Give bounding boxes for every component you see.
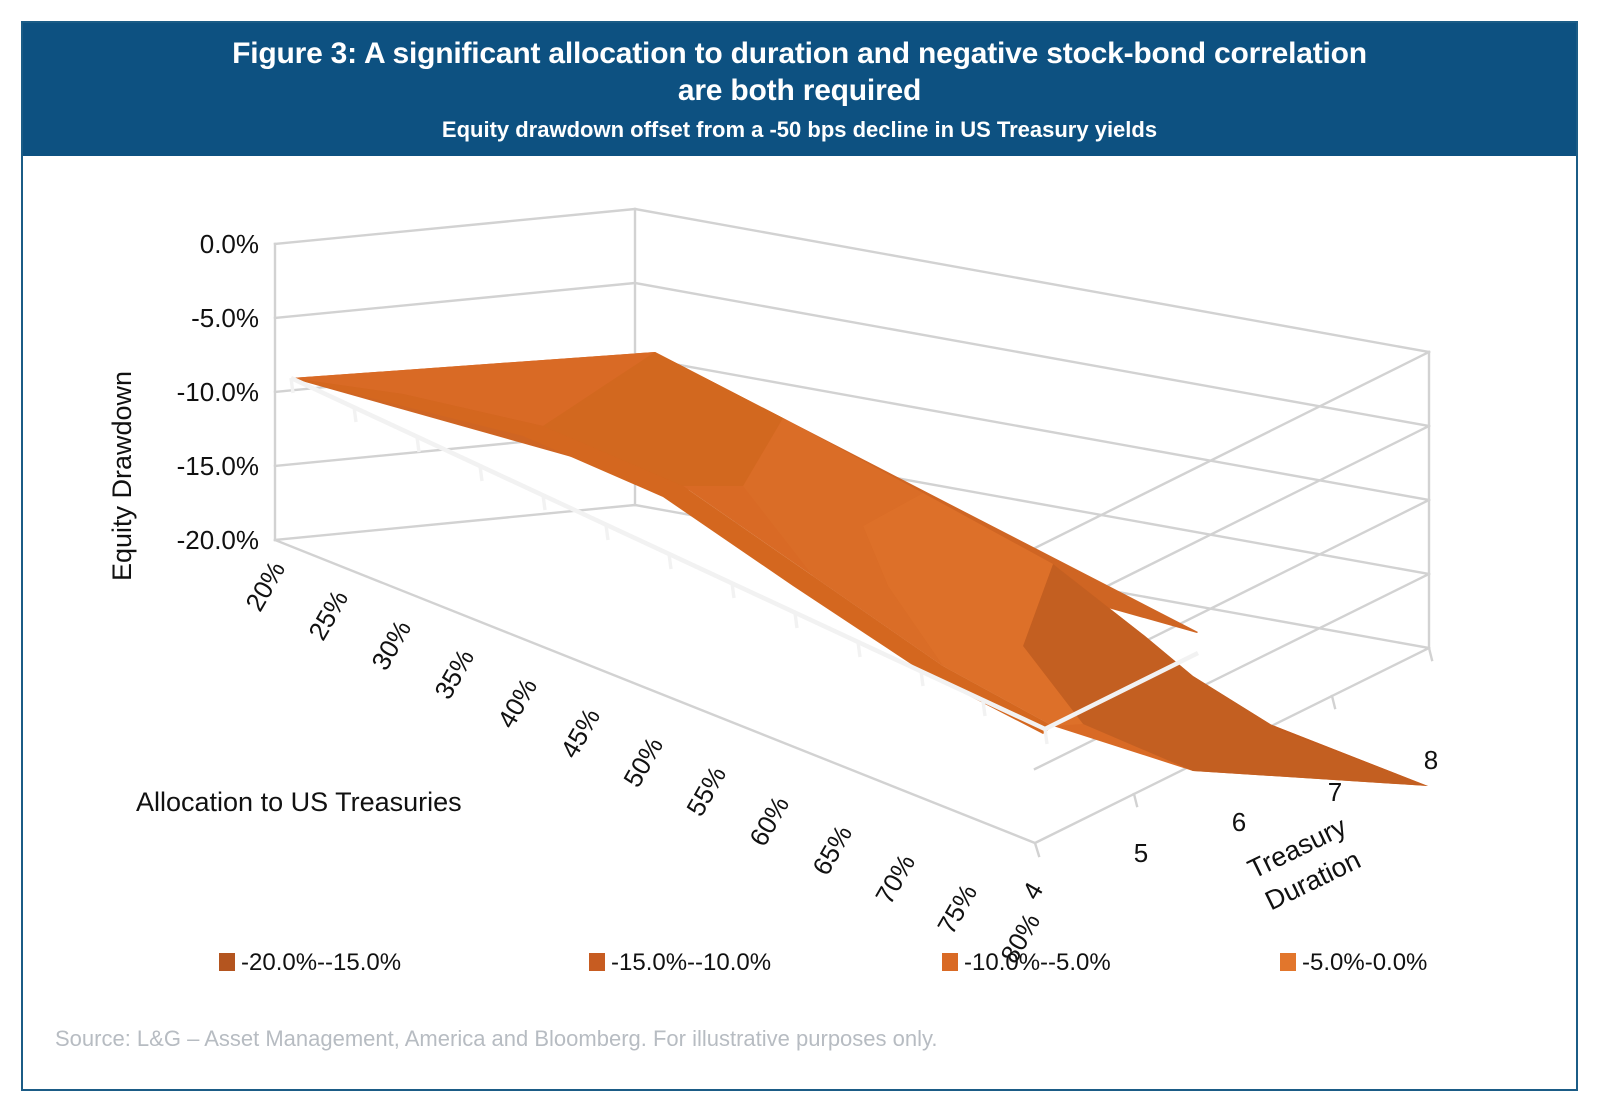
legend-swatch-0 bbox=[219, 953, 235, 971]
legend-swatch-2 bbox=[942, 953, 958, 971]
y-tick-3: -15.0% bbox=[177, 451, 259, 481]
source-note: Source: L&G – Asset Management, America … bbox=[55, 1026, 937, 1051]
legend-label-1: -15.0%--10.0% bbox=[611, 949, 771, 976]
x-tick-11: 75% bbox=[931, 879, 983, 939]
figure-subtitle: Equity drawdown offset from a -50 bps de… bbox=[442, 117, 1157, 143]
x-tick-5: 45% bbox=[554, 703, 606, 763]
legend-item-2[interactable]: -10.0%--5.0% bbox=[942, 949, 1111, 976]
y-tick-0: 0.0% bbox=[200, 229, 259, 259]
x-tick-6: 50% bbox=[617, 732, 669, 792]
z-tick-3: 7 bbox=[1328, 777, 1342, 807]
z-tick-2: 6 bbox=[1232, 807, 1246, 837]
legend-item-3[interactable]: -5.0%-0.0% bbox=[1280, 949, 1427, 976]
x-tick-2: 30% bbox=[365, 615, 417, 675]
chart-plot-area: 0.0% -5.0% -10.0% -15.0% -20.0% Equity D… bbox=[23, 156, 1576, 1093]
figure-title: Figure 3: A significant allocation to du… bbox=[210, 36, 1390, 109]
x-tick-10: 70% bbox=[869, 849, 921, 909]
x-axis-title: Allocation to US Treasuries bbox=[136, 787, 462, 817]
y-axis-title: Equity Drawdown bbox=[107, 371, 137, 581]
z-tick-0: 4 bbox=[1016, 877, 1049, 905]
x-tick-3: 35% bbox=[428, 644, 480, 704]
figure-container: Figure 3: A significant allocation to du… bbox=[21, 21, 1578, 1091]
y-tick-1: -5.0% bbox=[191, 303, 259, 333]
x-tick-0: 20% bbox=[239, 556, 291, 616]
chart-legend: -20.0%--15.0% -15.0%--10.0% -10.0%--5.0%… bbox=[219, 949, 1427, 976]
x-tick-1: 25% bbox=[302, 585, 354, 645]
legend-swatch-1 bbox=[589, 953, 605, 971]
x-tick-9: 65% bbox=[806, 820, 858, 880]
y-axis-tick-labels: 0.0% -5.0% -10.0% -15.0% -20.0% bbox=[177, 229, 259, 555]
legend-label-0: -20.0%--15.0% bbox=[241, 949, 401, 976]
y-tick-2: -10.0% bbox=[177, 377, 259, 407]
legend-item-1[interactable]: -15.0%--10.0% bbox=[589, 949, 771, 976]
legend-swatch-3 bbox=[1280, 953, 1296, 971]
surface-mesh bbox=[291, 352, 1428, 786]
x-tick-8: 60% bbox=[743, 791, 795, 851]
y-tick-4: -20.0% bbox=[177, 525, 259, 555]
z-axis-title: Treasury Duration bbox=[1243, 811, 1367, 917]
legend-item-0[interactable]: -20.0%--15.0% bbox=[219, 949, 401, 976]
surface-chart-svg: 0.0% -5.0% -10.0% -15.0% -20.0% Equity D… bbox=[23, 156, 1576, 1093]
legend-label-3: -5.0%-0.0% bbox=[1302, 949, 1427, 976]
z-tick-4: 8 bbox=[1424, 745, 1438, 775]
figure-header: Figure 3: A significant allocation to du… bbox=[23, 23, 1576, 156]
z-tick-1: 5 bbox=[1134, 838, 1148, 868]
legend-label-2: -10.0%--5.0% bbox=[964, 949, 1111, 976]
x-tick-4: 40% bbox=[491, 673, 543, 733]
x-tick-7: 55% bbox=[680, 761, 732, 821]
